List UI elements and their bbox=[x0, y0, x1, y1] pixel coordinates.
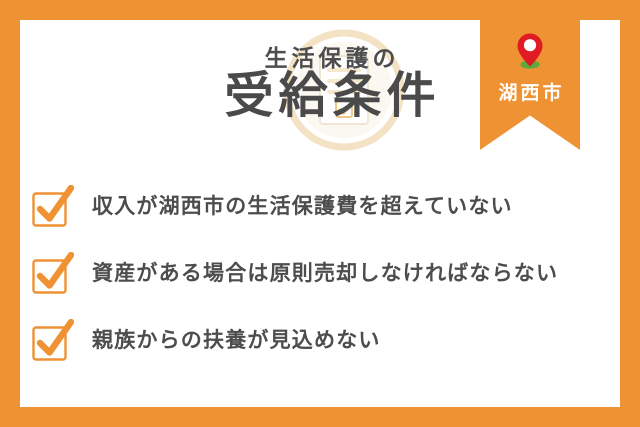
list-item-label: 資産がある場合は原則売却しなければならない bbox=[92, 263, 558, 284]
title-subline: 生活保護の bbox=[170, 46, 490, 70]
ribbon-city-label: 湖西市 bbox=[480, 78, 580, 105]
map-pin-icon bbox=[515, 32, 545, 70]
infographic-root: 生活保護の 受給条件 湖西市 収入が湖西市 bbox=[0, 0, 640, 427]
title-mainline: 受給条件 bbox=[170, 71, 490, 122]
list-item: 収入が湖西市の生活保護費を超えていない bbox=[20, 183, 620, 230]
list-item-label: 親族からの扶養が見込めない bbox=[92, 330, 381, 351]
list-item-label: 収入が湖西市の生活保護費を超えていない bbox=[92, 196, 513, 217]
checkbox-checked-icon bbox=[30, 319, 74, 363]
content-card: 生活保護の 受給条件 湖西市 収入が湖西市 bbox=[20, 20, 620, 407]
checkbox-checked-icon bbox=[30, 252, 74, 296]
page-title: 生活保護の 受給条件 bbox=[170, 46, 490, 123]
checkbox-checked-icon bbox=[30, 185, 74, 229]
conditions-checklist: 収入が湖西市の生活保護費を超えていない 資産がある場合は原則売却しなければならな… bbox=[20, 183, 620, 384]
list-item: 親族からの扶養が見込めない bbox=[20, 317, 620, 364]
list-item: 資産がある場合は原則売却しなければならない bbox=[20, 250, 620, 297]
city-ribbon-badge: 湖西市 bbox=[480, 20, 580, 150]
header: 生活保護の 受給条件 湖西市 bbox=[20, 20, 620, 175]
